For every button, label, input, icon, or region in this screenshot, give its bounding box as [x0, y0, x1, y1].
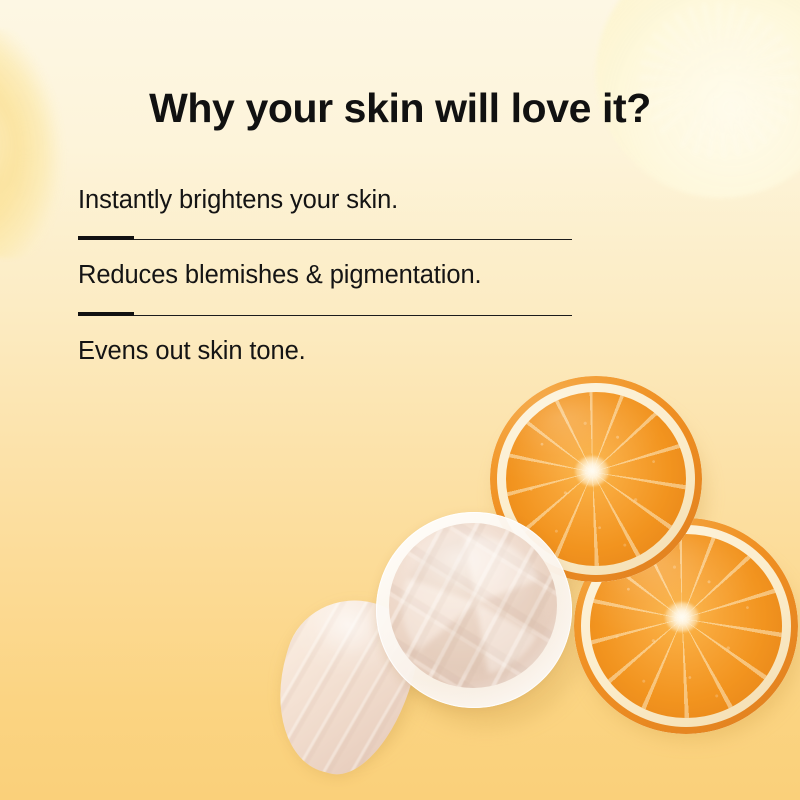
orange-segments: [590, 534, 782, 718]
orange-slice-icon: [490, 376, 702, 582]
list-item: Instantly brightens your skin.: [78, 186, 578, 215]
drop-shadow: [386, 538, 586, 728]
jar-cream-surface: [389, 523, 557, 688]
orange-flesh: [590, 534, 782, 718]
cream-jar-open-icon: [376, 512, 572, 708]
drop-shadow: [580, 540, 800, 740]
orange-pulp-specks: [590, 534, 782, 718]
orange-pith: [581, 525, 791, 727]
orange-segments: [506, 392, 686, 566]
benefit-text: Instantly brightens your skin.: [78, 186, 578, 215]
drop-shadow: [496, 396, 706, 591]
divider-thin-line: [78, 315, 572, 316]
cream-highlight: [389, 523, 557, 688]
product-photo-group: [268, 360, 800, 800]
orange-flesh: [506, 392, 686, 566]
orange-pith: [497, 383, 695, 575]
list-item: Evens out skin tone.: [78, 337, 578, 366]
cream-highlight: [258, 584, 430, 788]
divider-thick-accent: [78, 236, 134, 240]
benefit-text: Reduces blemishes & pigmentation.: [78, 261, 578, 290]
cream-swatch-icon: [258, 584, 430, 788]
divider-thin-line: [78, 239, 572, 240]
orange-gloss: [490, 376, 702, 582]
benefit-text: Evens out skin tone.: [78, 337, 578, 366]
benefit-divider: [78, 236, 572, 240]
orange-rind: [574, 518, 798, 734]
cream-texture: [389, 523, 557, 688]
orange-core: [665, 602, 699, 632]
cream-swirl: [402, 536, 543, 675]
drop-shadow: [266, 591, 439, 776]
benefit-divider: [78, 312, 572, 316]
promo-poster: Why your skin will love it? Instantly br…: [0, 0, 800, 800]
orange-pulp-specks: [506, 392, 686, 566]
jar-rim: [376, 512, 572, 708]
orange-core: [575, 456, 609, 486]
list-item: Reduces blemishes & pigmentation.: [78, 261, 578, 290]
page-title: Why your skin will love it?: [0, 87, 800, 130]
cream-texture: [258, 584, 430, 788]
orange-gloss: [574, 518, 798, 734]
orange-rind: [490, 376, 702, 582]
orange-slice-icon: [574, 518, 798, 734]
divider-thick-accent: [78, 312, 134, 316]
benefit-list: Instantly brightens your skin. Reduces b…: [78, 186, 578, 366]
